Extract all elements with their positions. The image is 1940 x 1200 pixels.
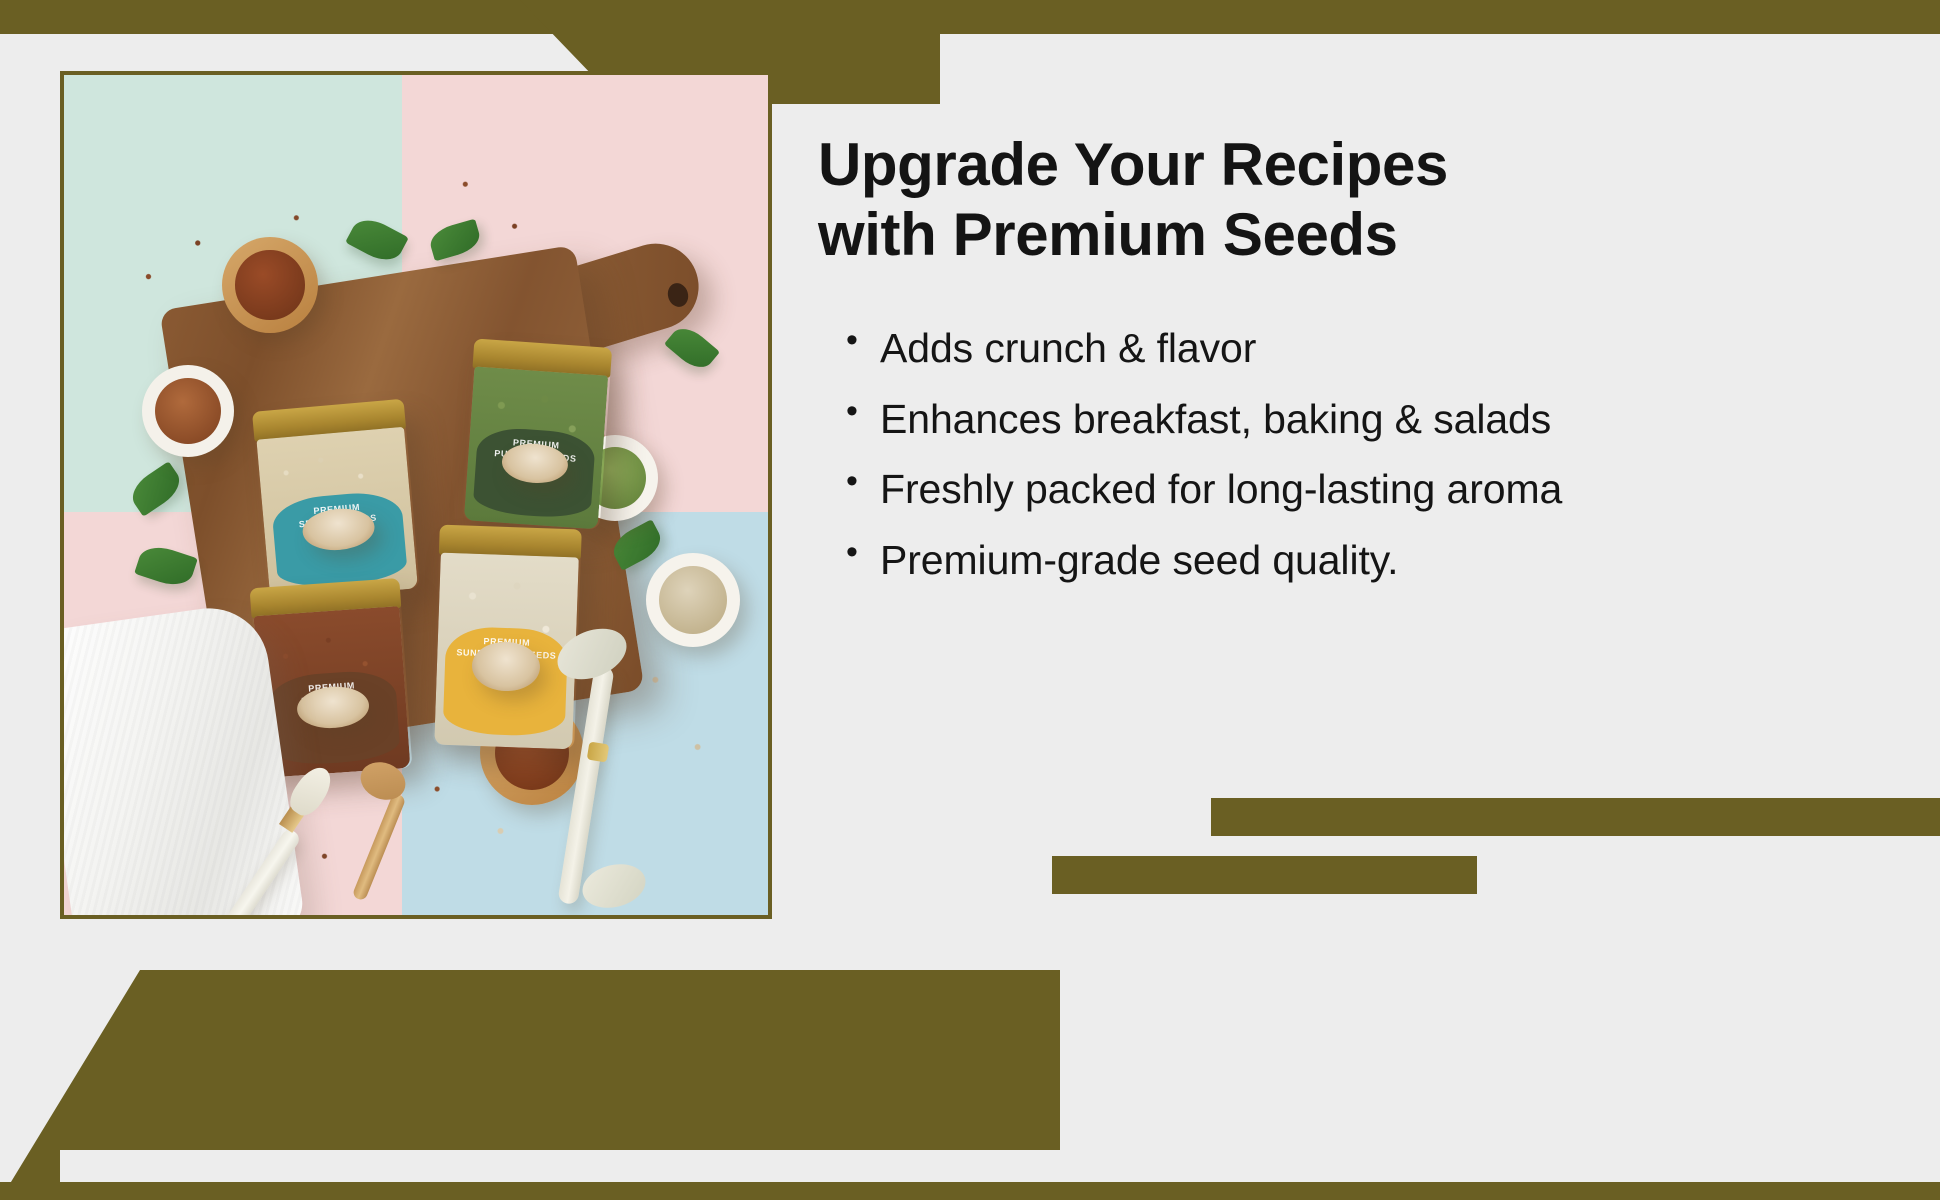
list-item: Premium-grade seed quality. [818, 525, 1578, 596]
list-item: Freshly packed for long-lasting aroma [818, 454, 1578, 525]
jade-roller-collar [587, 742, 610, 763]
page-title: Upgrade Your Recipes with Premium Seeds [818, 130, 1858, 269]
jar-label: PREMIUM SESAME SEEDS [271, 489, 409, 591]
seed-jar: PREMIUM SUNFLOWER SEEDS [432, 525, 582, 750]
seed-bowl [646, 553, 740, 647]
seed-bowl-contents [235, 250, 304, 319]
olive-top-right-band [836, 0, 1940, 34]
seed-jar: PREMIUM PUMPKIN SEEDS [462, 338, 612, 529]
jar-label: PREMIUM PUMPKIN SEEDS [472, 425, 596, 519]
seed-bowl [142, 365, 234, 457]
seed-bowl-contents [155, 378, 221, 444]
olive-bottom-left-shape [0, 970, 1060, 1200]
jar-glass: PREMIUM SESAME SEEDS [256, 427, 418, 601]
product-photo: PREMIUM SESAME SEEDS PREMIUM PUMPKIN SEE… [60, 71, 772, 919]
list-item: Enhances breakfast, baking & salads [818, 384, 1578, 455]
benefits-list: Adds crunch & flavor Enhances breakfast,… [818, 313, 1858, 595]
accent-bar-lower [1052, 856, 1477, 894]
seed-jar: PREMIUM SESAME SEEDS [252, 399, 420, 602]
jar-glass: PREMIUM PUMPKIN SEEDS [464, 366, 608, 529]
seed-bowl [222, 237, 318, 333]
list-item: Adds crunch & flavor [818, 313, 1578, 384]
jar-glass: PREMIUM SUNFLOWER SEEDS [434, 553, 579, 750]
seed-bowl-contents [659, 566, 727, 634]
text-column: Upgrade Your Recipes with Premium Seeds … [818, 130, 1858, 595]
jar-label-bowl-graphic [296, 684, 371, 731]
jar-label: PREMIUM SUNFLOWER SEEDS [443, 626, 568, 738]
olive-bottom-strip [0, 1182, 1940, 1200]
slide-canvas: PREMIUM SESAME SEEDS PREMIUM PUMPKIN SEE… [0, 0, 1940, 1200]
jar-label: PREMIUM FLAX SEEDS [267, 668, 402, 767]
photo-backdrop: PREMIUM SESAME SEEDS PREMIUM PUMPKIN SEE… [64, 75, 768, 915]
accent-bar-upper [1211, 798, 1940, 836]
